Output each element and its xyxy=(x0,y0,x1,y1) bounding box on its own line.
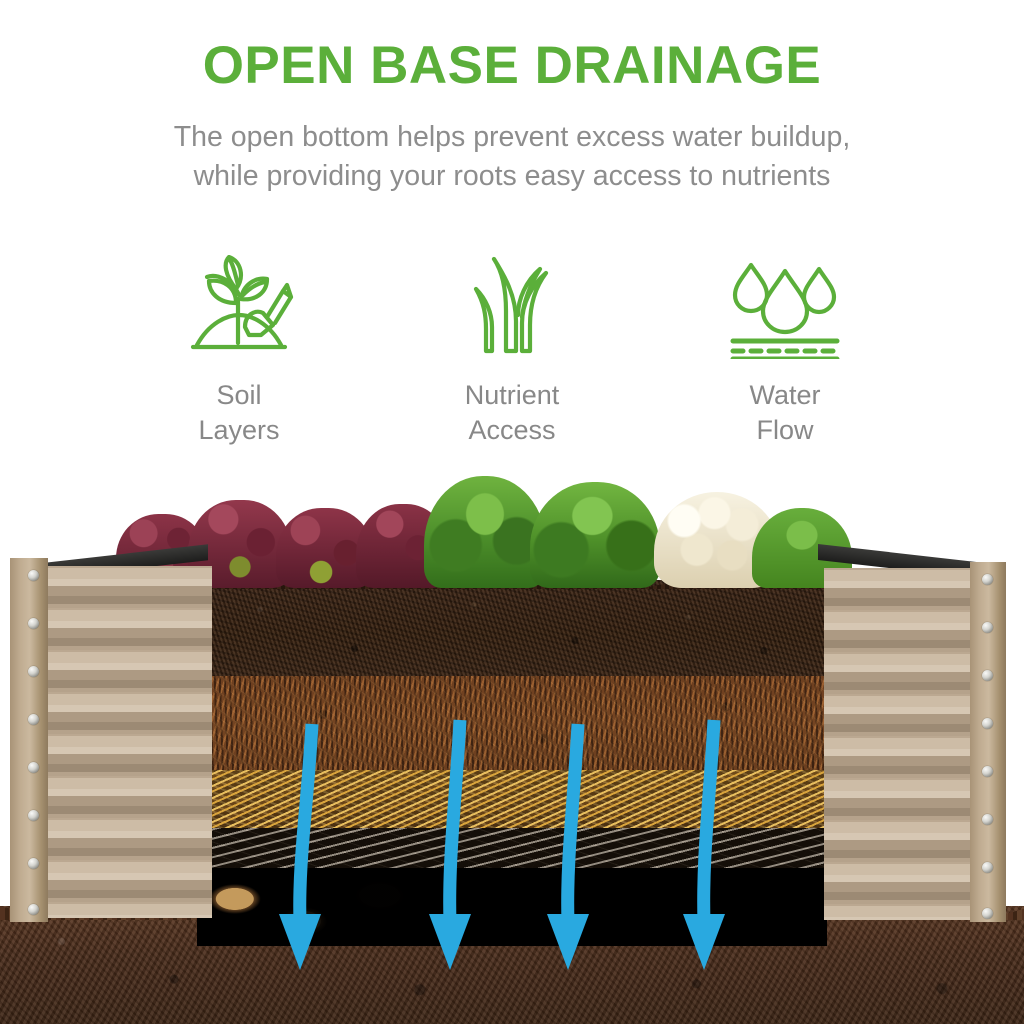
post-screw xyxy=(982,766,993,777)
feature-nutrient-access: Nutrient Access xyxy=(376,252,649,447)
grass-blades-icon xyxy=(452,252,572,362)
soil-layer-wood-logs xyxy=(197,868,827,946)
feature-label: Nutrient Access xyxy=(465,378,560,447)
feature-label-line-2: Layers xyxy=(198,413,279,448)
post-screw xyxy=(28,810,39,821)
post-screw xyxy=(982,908,993,919)
feature-label: Water Flow xyxy=(749,378,820,447)
soil-layer-straw xyxy=(197,770,827,832)
post-screw xyxy=(982,670,993,681)
feature-label-line-1: Water xyxy=(749,378,820,413)
soil-layer-topsoil xyxy=(197,580,827,678)
feature-list: Soil Layers Nutrient Access xyxy=(0,252,1024,462)
feature-label: Soil Layers xyxy=(198,378,279,447)
feature-water-flow: Water Flow xyxy=(649,252,922,447)
page-subtitle: The open bottom helps prevent excess wat… xyxy=(0,118,1024,197)
feature-label-line-1: Soil xyxy=(198,378,279,413)
post-screw xyxy=(28,858,39,869)
post-screw xyxy=(982,814,993,825)
feature-label-line-2: Access xyxy=(465,413,560,448)
soil-cross-section xyxy=(197,580,827,946)
water-droplets-icon xyxy=(725,252,845,362)
product-feature-graphic: OPEN BASE DRAINAGE The open bottom helps… xyxy=(0,0,1024,1024)
post-screw xyxy=(28,570,39,581)
seedling-shovel-icon xyxy=(179,252,299,362)
feature-label-line-2: Flow xyxy=(749,413,820,448)
post-screw xyxy=(982,574,993,585)
post-screw xyxy=(982,718,993,729)
feature-label-line-1: Nutrient xyxy=(465,378,560,413)
feature-soil-layers: Soil Layers xyxy=(103,252,376,447)
corrugated-wall-left xyxy=(44,566,212,918)
post-screw xyxy=(982,622,993,633)
soil-layer-twigs xyxy=(197,828,827,872)
post-screw xyxy=(982,862,993,873)
plant-green-cabbage xyxy=(530,482,660,588)
page-title: OPEN BASE DRAINAGE xyxy=(0,38,1024,94)
post-screw xyxy=(28,904,39,915)
post-screw xyxy=(28,618,39,629)
post-screw xyxy=(28,714,39,725)
corrugated-wall-right xyxy=(824,568,974,920)
raised-garden-bed-cutaway xyxy=(0,470,1024,1024)
post-screw xyxy=(28,762,39,773)
subtitle-line-2: while providing your roots easy access t… xyxy=(0,157,1024,196)
soil-layer-compost-mulch xyxy=(197,676,827,772)
post-screw xyxy=(28,666,39,677)
plant-green-cabbage xyxy=(424,476,546,588)
subtitle-line-1: The open bottom helps prevent excess wat… xyxy=(0,118,1024,157)
